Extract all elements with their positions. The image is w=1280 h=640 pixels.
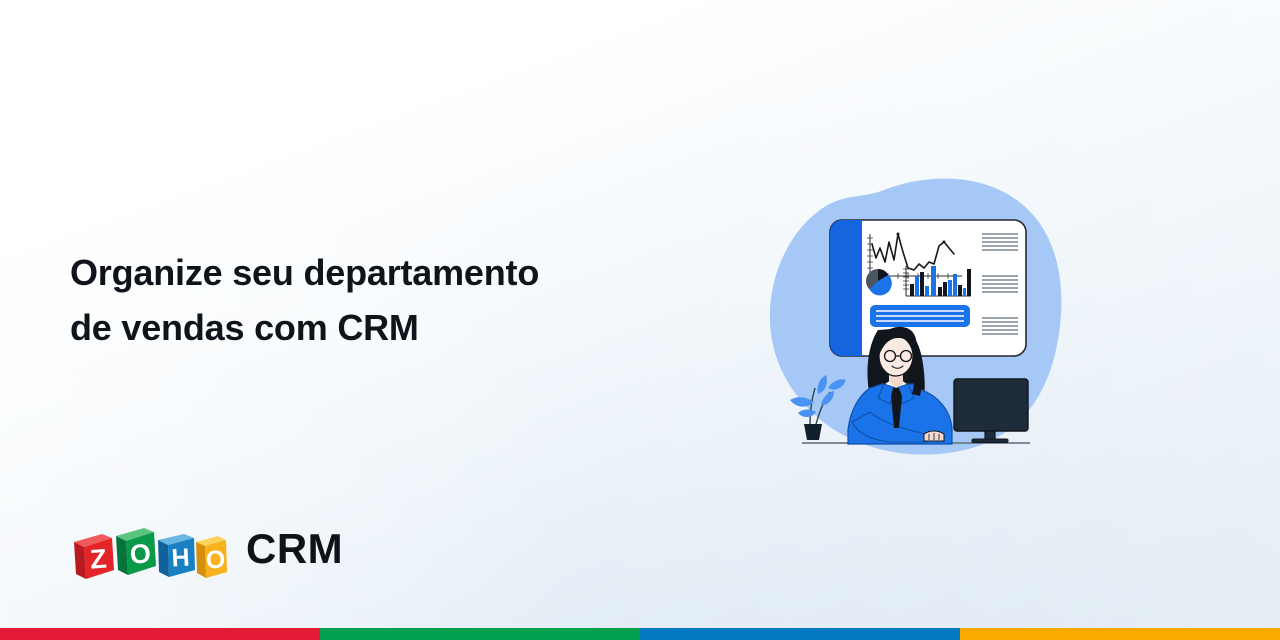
svg-text:O: O (129, 538, 152, 569)
hero-illustration (766, 172, 1076, 472)
logo-block-z: Z (74, 534, 114, 579)
zoho-crm-banner: Organize seu departamento de vendas com … (0, 0, 1280, 640)
dashboard-screen (830, 220, 1026, 356)
page-title: Organize seu departamento de vendas com … (70, 245, 690, 355)
color-bar-segment-red (0, 628, 320, 640)
color-bar-segment-orange (960, 628, 1280, 640)
highlight-bars-block (870, 305, 970, 327)
headline-emphasis-crm: CRM (337, 307, 418, 348)
headline-line-1: Organize seu departamento (70, 245, 690, 300)
logo-block-o2: O (196, 536, 227, 578)
product-name-crm: CRM (246, 528, 343, 574)
brand-color-bar (0, 628, 1280, 640)
svg-text:Z: Z (89, 543, 108, 574)
color-bar-segment-blue (640, 628, 960, 640)
headline-line-2-prefix: de vendas com (70, 307, 337, 348)
logo-block-o1: O (116, 528, 156, 575)
svg-text:H: H (171, 544, 191, 573)
headline-line-2: de vendas com CRM (70, 300, 690, 355)
color-bar-segment-green (320, 628, 640, 640)
brand-lockup[interactable]: Z O H (68, 520, 343, 582)
logo-block-h: H (158, 534, 195, 577)
svg-text:O: O (205, 546, 226, 575)
zoho-logo[interactable]: Z O H (68, 520, 228, 582)
